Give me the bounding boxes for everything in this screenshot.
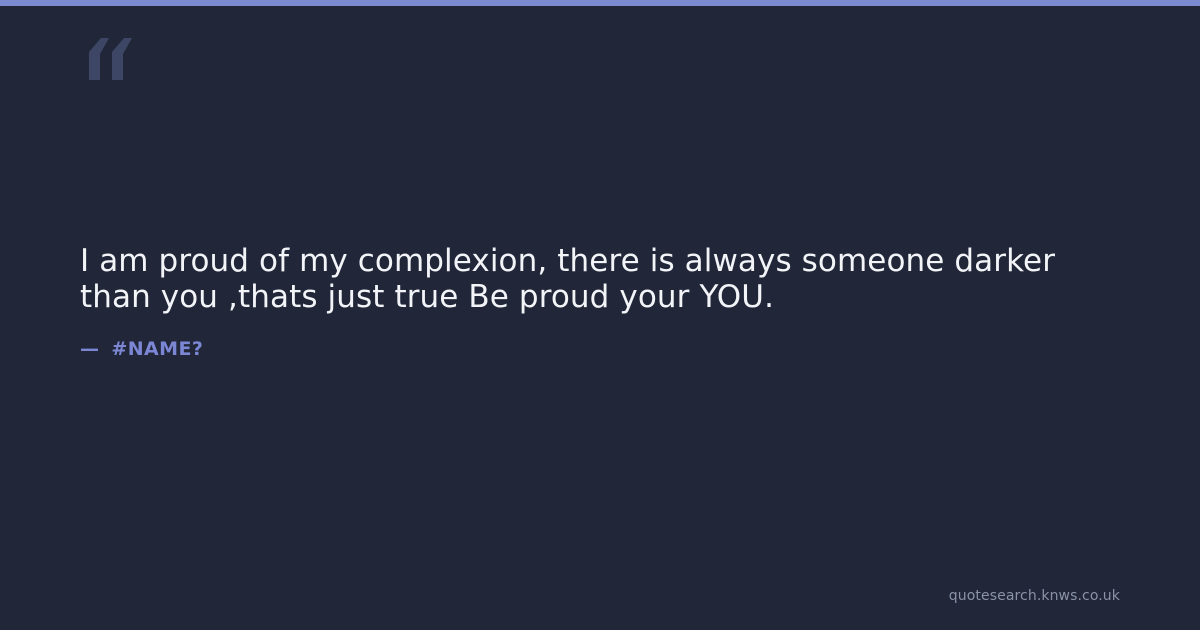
double-quote-open-icon — [79, 36, 135, 84]
quote-line: I am proud of my complexion, there is al… — [80, 243, 1120, 279]
quote-line: than you ,thats just true Be proud your … — [80, 279, 1120, 315]
quote-attribution: — #NAME? — [80, 338, 203, 360]
top-accent-bar — [0, 0, 1200, 6]
quote-card: I am proud of my complexion, there is al… — [0, 0, 1200, 630]
site-watermark: quotesearch.knws.co.uk — [949, 588, 1120, 604]
quote-text: I am proud of my complexion, there is al… — [80, 243, 1120, 315]
attribution-dash: — — [80, 338, 99, 360]
attribution-author-name: #NAME? — [111, 338, 203, 360]
